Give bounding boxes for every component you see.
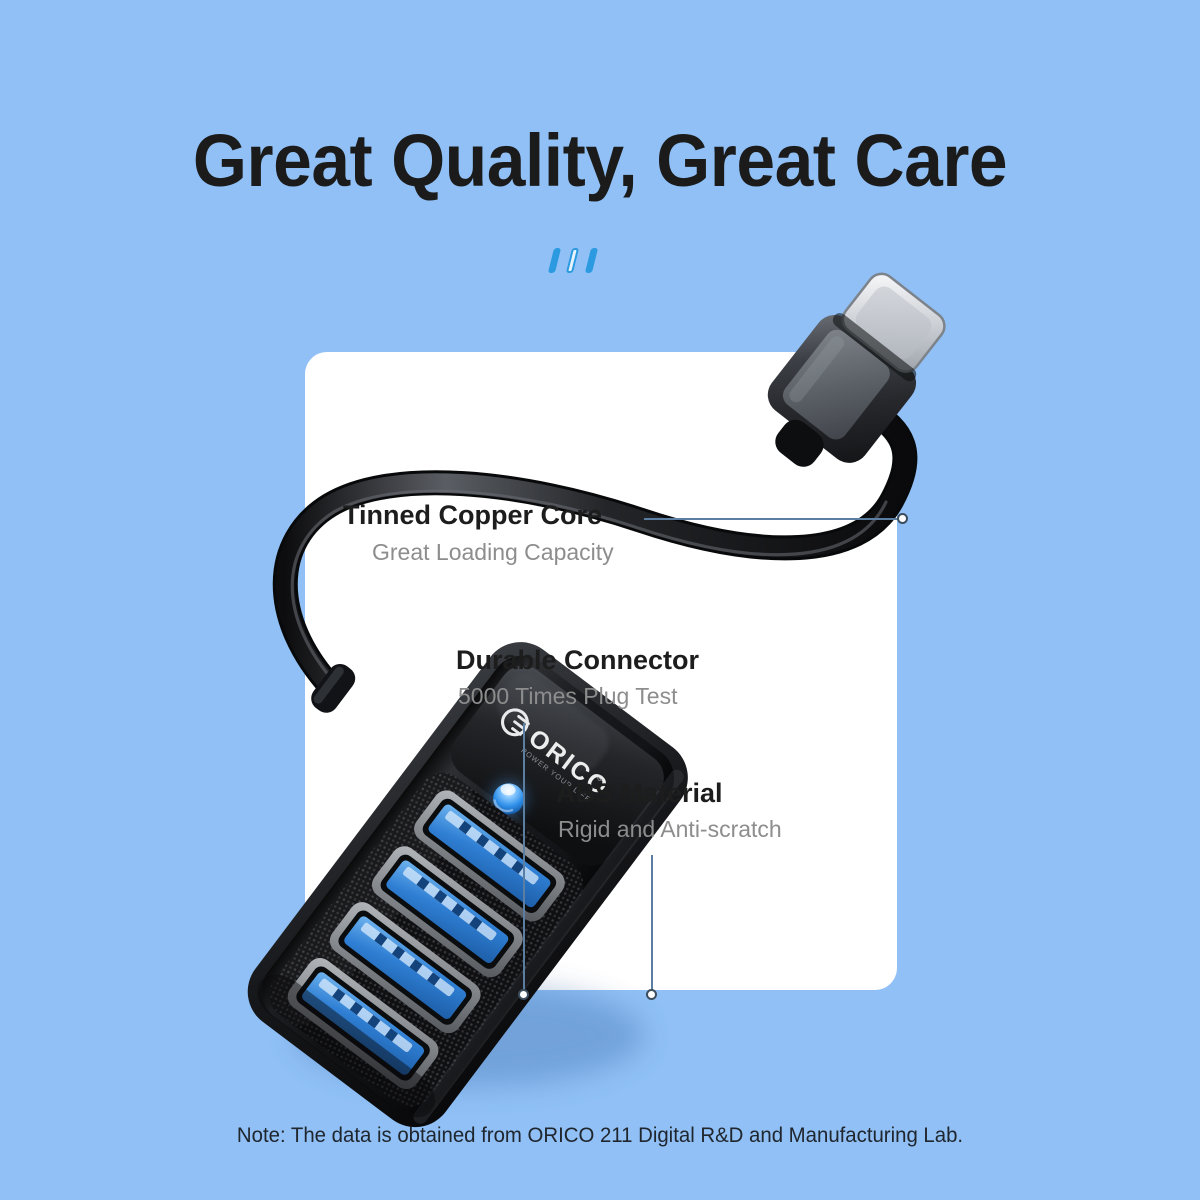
callout-title: ABS Material — [556, 778, 782, 808]
callout-tinned-copper-core: Tinned Copper Core Great Loading Capacit… — [343, 500, 614, 567]
callout-title: Tinned Copper Core — [343, 500, 614, 530]
footer-note: Note: The data is obtained from ORICO 21… — [18, 1124, 1182, 1148]
leader-line-abs-material — [651, 855, 653, 995]
leader-dot-port — [518, 989, 529, 1000]
callout-durable-connector: Durable Connector 5000 Times Plug Test — [456, 645, 699, 711]
callout-subtitle: 5000 Times Plug Test — [458, 683, 699, 711]
divider-bar-3 — [585, 248, 598, 273]
leader-line-durable-connector — [523, 723, 525, 995]
product-feature-banner: Great Quality, Great Care — [0, 0, 1200, 1200]
divider-bar-1 — [548, 248, 561, 273]
slanted-bars-divider-icon — [551, 248, 603, 274]
leader-dot-cable — [897, 513, 908, 524]
leader-dot-housing — [646, 989, 657, 1000]
callout-title: Durable Connector — [456, 645, 699, 675]
callout-subtitle: Great Loading Capacity — [372, 539, 614, 567]
page-title: Great Quality, Great Care — [36, 124, 1164, 198]
callout-subtitle: Rigid and Anti-scratch — [558, 816, 782, 844]
leader-line-tinned-copper-core — [644, 518, 902, 520]
divider-bar-2 — [566, 248, 579, 273]
callout-abs-material: ABS Material Rigid and Anti-scratch — [556, 778, 782, 844]
